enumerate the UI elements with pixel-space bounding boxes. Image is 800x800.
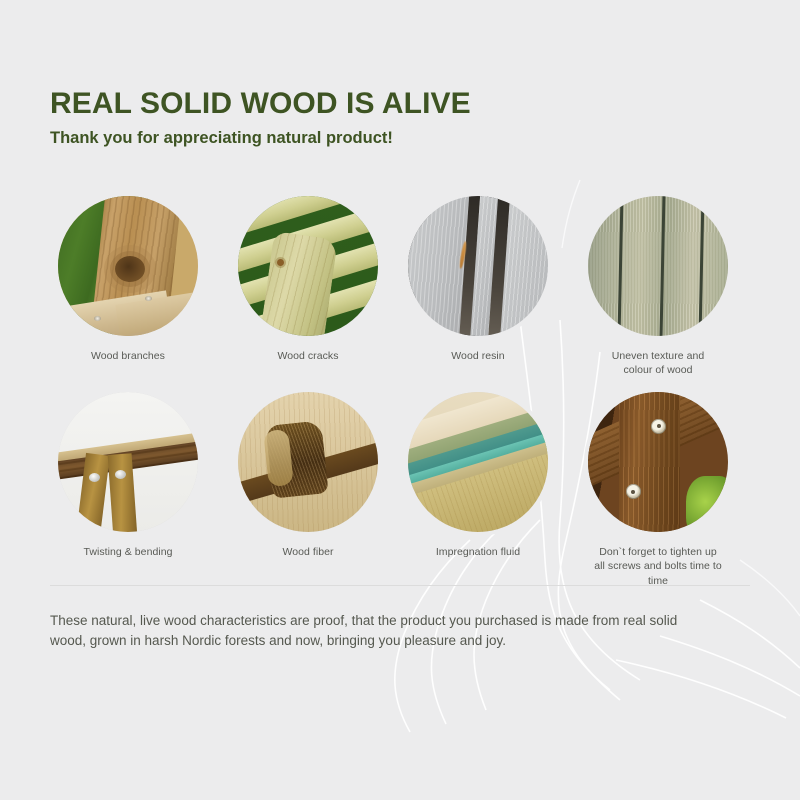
item-caption: Impregnation fluid [388, 545, 568, 559]
wood-characteristics-infographic: REAL SOLID WOOD IS ALIVE Thank you for a… [0, 0, 800, 800]
characteristics-grid: Wood branches Wood cr [0, 196, 800, 588]
item-caption: Wood cracks [218, 349, 398, 363]
circle-image-wrapper [238, 392, 378, 532]
photo-wood-branches [58, 196, 198, 336]
photo-canvas [58, 196, 198, 336]
screw-head [145, 296, 152, 301]
screw-head [94, 316, 101, 321]
item-impregnation-fluid: Impregnation fluid [388, 392, 568, 559]
item-caption: Wood branches [38, 349, 218, 363]
plank-seam [617, 196, 623, 336]
item-caption: Wood resin [388, 349, 568, 363]
circle-image-wrapper [588, 392, 728, 532]
vertical-post [619, 392, 681, 532]
photo-canvas [588, 196, 728, 336]
grid-row-1: Wood branches Wood cr [0, 196, 800, 392]
page-title: REAL SOLID WOOD IS ALIVE [50, 88, 750, 120]
photo-canvas [588, 392, 728, 532]
green-foliage [686, 476, 728, 532]
circle-image-wrapper [58, 392, 198, 532]
page-subtitle: Thank you for appreciating natural produ… [50, 129, 750, 149]
photo-impregnation-fluid [408, 392, 548, 532]
photo-wood-cracks [238, 196, 378, 336]
photo-wood-fiber [238, 392, 378, 532]
footnote-divider [50, 585, 750, 586]
circle-image-wrapper [58, 196, 198, 336]
photo-canvas [408, 392, 548, 532]
circle-image-wrapper [408, 392, 548, 532]
item-wood-branches: Wood branches [38, 196, 218, 363]
photo-wood-resin [408, 196, 548, 336]
photo-canvas [58, 392, 198, 532]
item-caption: Twisting & bending [38, 545, 218, 559]
plank-seam [659, 196, 665, 336]
circle-image-wrapper [588, 196, 728, 336]
item-caption: Wood fiber [218, 545, 398, 559]
item-wood-fiber: Wood fiber [218, 392, 398, 559]
photo-canvas [238, 196, 378, 336]
grid-row-2: Twisting & bending Wood fiber [0, 392, 800, 588]
photo-twisting-bending [58, 392, 198, 532]
header: REAL SOLID WOOD IS ALIVE Thank you for a… [50, 88, 750, 149]
item-tighten-screws: Don`t forget to tighten up all screws an… [568, 392, 748, 588]
item-caption: Uneven texture and colour of wood [568, 349, 748, 378]
bolt-head [89, 473, 100, 482]
plank-seam [698, 196, 704, 336]
item-caption: Don`t forget to tighten up all screws an… [568, 545, 748, 588]
item-twisting-bending: Twisting & bending [38, 392, 218, 559]
photo-screws-and-bolts [588, 392, 728, 532]
photo-canvas [408, 196, 548, 336]
footnote-text: These natural, live wood characteristics… [50, 611, 700, 653]
photo-canvas [238, 392, 378, 532]
photo-uneven-texture [588, 196, 728, 336]
circle-image-wrapper [238, 196, 378, 336]
screw-head [651, 419, 666, 434]
item-wood-cracks: Wood cracks [218, 196, 398, 363]
item-uneven-texture: Uneven texture and colour of wood [568, 196, 748, 378]
circle-image-wrapper [408, 196, 548, 336]
item-wood-resin: Wood resin [388, 196, 568, 363]
